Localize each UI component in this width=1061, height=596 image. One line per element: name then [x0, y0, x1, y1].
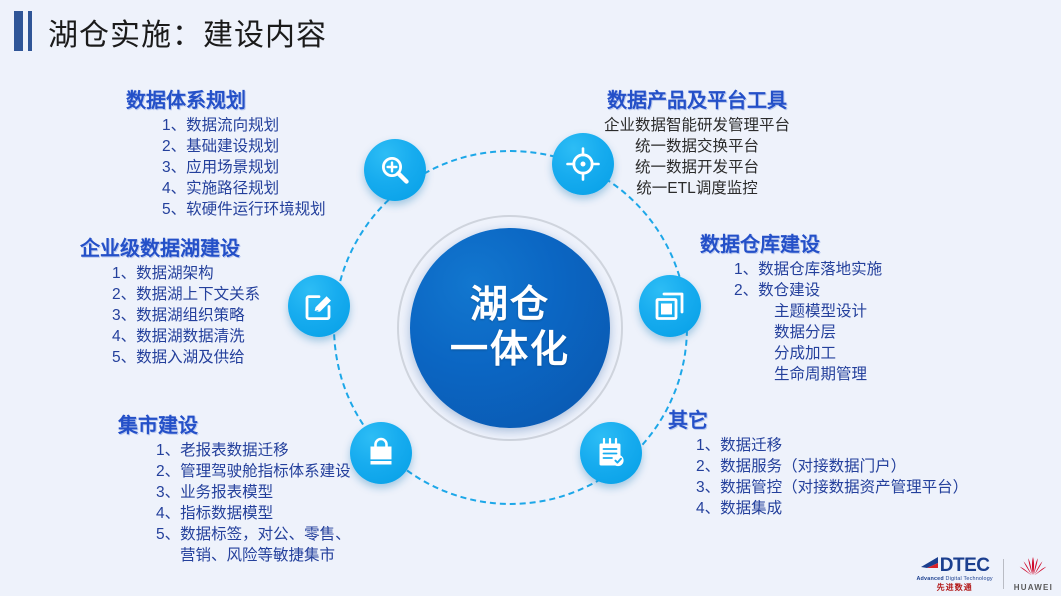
slide-header: 湖仓实施：建设内容 [0, 0, 1061, 62]
list-item: 企业数据智能研发管理平台 [604, 115, 790, 136]
target-icon [566, 147, 600, 181]
center-label-line1: 湖仓 [470, 283, 550, 328]
node-text-data-warehouse: 数据仓库建设 1、数据仓库落地实施 2、数仓建设 主题模型设计 数据分层 分成加… [700, 228, 882, 385]
list-item: 1、数据流向规划 [126, 115, 326, 136]
list-item: 1、数据湖架构 [80, 263, 260, 284]
center-circle: 湖仓 一体化 [410, 228, 610, 428]
node-item-list: 1、数据仓库落地实施 2、数仓建设 主题模型设计 数据分层 分成加工 生命周期管… [700, 259, 882, 385]
zoom-in-icon [378, 153, 412, 187]
list-item: 5、数据标签，对公、零售、 [118, 524, 351, 545]
node-item-list: 1、老报表数据迁移 2、管理驾驶舱指标体系建设 3、业务报表模型 4、指标数据模… [118, 440, 351, 566]
logo-divider [1003, 559, 1004, 589]
node-text-data-products-platform-tools: 数据产品及平台工具 企业数据智能研发管理平台 统一数据交换平台 统一数据开发平台… [604, 84, 790, 199]
page-title: 湖仓实施：建设内容 [48, 10, 327, 54]
node-heading: 数据体系规划 [126, 84, 326, 113]
list-item: 5、数据入湖及供给 [80, 347, 260, 368]
list-item: 1、数据仓库落地实施 [700, 259, 882, 280]
list-item: 3、业务报表模型 [118, 482, 351, 503]
dtec-tagline: Advanced Digital Technology [916, 577, 992, 582]
dtec-logo-row: DTEC [920, 555, 990, 576]
list-item: 2、数据湖上下文关系 [80, 284, 260, 305]
list-item: 营销、风险等敏捷集市 [118, 545, 351, 566]
list-item: 1、数据迁移 [668, 435, 968, 456]
node-icon-data-warehouse[interactable] [639, 275, 701, 337]
node-heading: 数据产品及平台工具 [604, 84, 790, 113]
list-item: 2、管理驾驶舱指标体系建设 [118, 461, 351, 482]
list-item: 4、数据集成 [668, 498, 968, 519]
list-item: 3、数据湖组织策略 [80, 305, 260, 326]
node-item-list: 1、数据迁移 2、数据服务（对接数据门户） 3、数据管控（对接数据资产管理平台）… [668, 435, 968, 519]
checklist-note-icon [594, 436, 628, 470]
node-text-enterprise-data-lake: 企业级数据湖建设 1、数据湖架构 2、数据湖上下文关系 3、数据湖组织策略 4、… [80, 232, 260, 368]
title-accent-bar-thick [14, 11, 23, 51]
dtec-tagline-rest: Digital Technology [944, 576, 993, 582]
node-icon-enterprise-data-lake[interactable] [288, 275, 350, 337]
huawei-logo: HUAWEI [1014, 555, 1053, 592]
list-item: 2、数据服务（对接数据门户） [668, 456, 968, 477]
list-item: 生命周期管理 [700, 364, 882, 385]
list-item: 2、数仓建设 [700, 280, 882, 301]
list-item: 主题模型设计 [700, 301, 882, 322]
node-text-data-mart: 集市建设 1、老报表数据迁移 2、管理驾驶舱指标体系建设 3、业务报表模型 4、… [118, 409, 351, 566]
node-icon-others[interactable] [580, 422, 642, 484]
node-icon-data-system-planning[interactable] [364, 139, 426, 201]
dtec-logo: DTEC Advanced Digital Technology 先进数通 [916, 555, 992, 591]
footer-logos: DTEC Advanced Digital Technology 先进数通 [916, 555, 1053, 592]
list-item: 1、老报表数据迁移 [118, 440, 351, 461]
dtec-tagline-bold: Advanced [916, 576, 943, 582]
list-item: 统一数据交换平台 [604, 136, 790, 157]
node-item-list: 1、数据流向规划 2、基础建设规划 3、应用场景规划 4、实施路径规划 5、软硬… [126, 115, 326, 220]
huawei-flower-icon [1017, 555, 1049, 582]
node-item-list: 1、数据湖架构 2、数据湖上下文关系 3、数据湖组织策略 4、数据湖数据清洗 5… [80, 263, 260, 368]
huawei-wordmark: HUAWEI [1014, 583, 1053, 592]
node-heading: 数据仓库建设 [700, 228, 882, 257]
node-heading: 集市建设 [118, 409, 351, 438]
node-text-data-system-planning: 数据体系规划 1、数据流向规划 2、基础建设规划 3、应用场景规划 4、实施路径… [126, 84, 326, 220]
list-item: 3、数据管控（对接数据资产管理平台） [668, 477, 968, 498]
list-item: 4、数据湖数据清洗 [80, 326, 260, 347]
node-heading: 其它 [668, 404, 968, 433]
list-item: 5、软硬件运行环境规划 [126, 199, 326, 220]
dtec-wordmark: DTEC [940, 556, 990, 575]
slide-canvas: 湖仓实施：建设内容 湖仓 一体化 [0, 0, 1061, 596]
list-item: 数据分层 [700, 322, 882, 343]
title-accent-bar-thin [28, 11, 32, 51]
list-item: 统一数据开发平台 [604, 157, 790, 178]
shopping-bag-icon [364, 436, 398, 470]
list-item: 4、指标数据模型 [118, 503, 351, 524]
list-item: 分成加工 [700, 343, 882, 364]
list-item: 3、应用场景规划 [126, 157, 326, 178]
list-item: 2、基础建设规划 [126, 136, 326, 157]
center-label-line2: 一体化 [450, 328, 570, 373]
node-item-list: 企业数据智能研发管理平台 统一数据交换平台 统一数据开发平台 统一ETL调度监控 [604, 115, 790, 199]
node-icon-data-mart[interactable] [350, 422, 412, 484]
node-text-others: 其它 1、数据迁移 2、数据服务（对接数据门户） 3、数据管控（对接数据资产管理… [668, 404, 968, 519]
dtec-arrow-icon [920, 555, 940, 576]
list-item: 统一ETL调度监控 [604, 178, 790, 199]
list-item: 4、实施路径规划 [126, 178, 326, 199]
node-heading: 企业级数据湖建设 [80, 232, 260, 261]
copy-layers-icon [653, 289, 687, 323]
dtec-chinese-name: 先进数通 [937, 584, 973, 592]
edit-square-icon [302, 289, 336, 323]
